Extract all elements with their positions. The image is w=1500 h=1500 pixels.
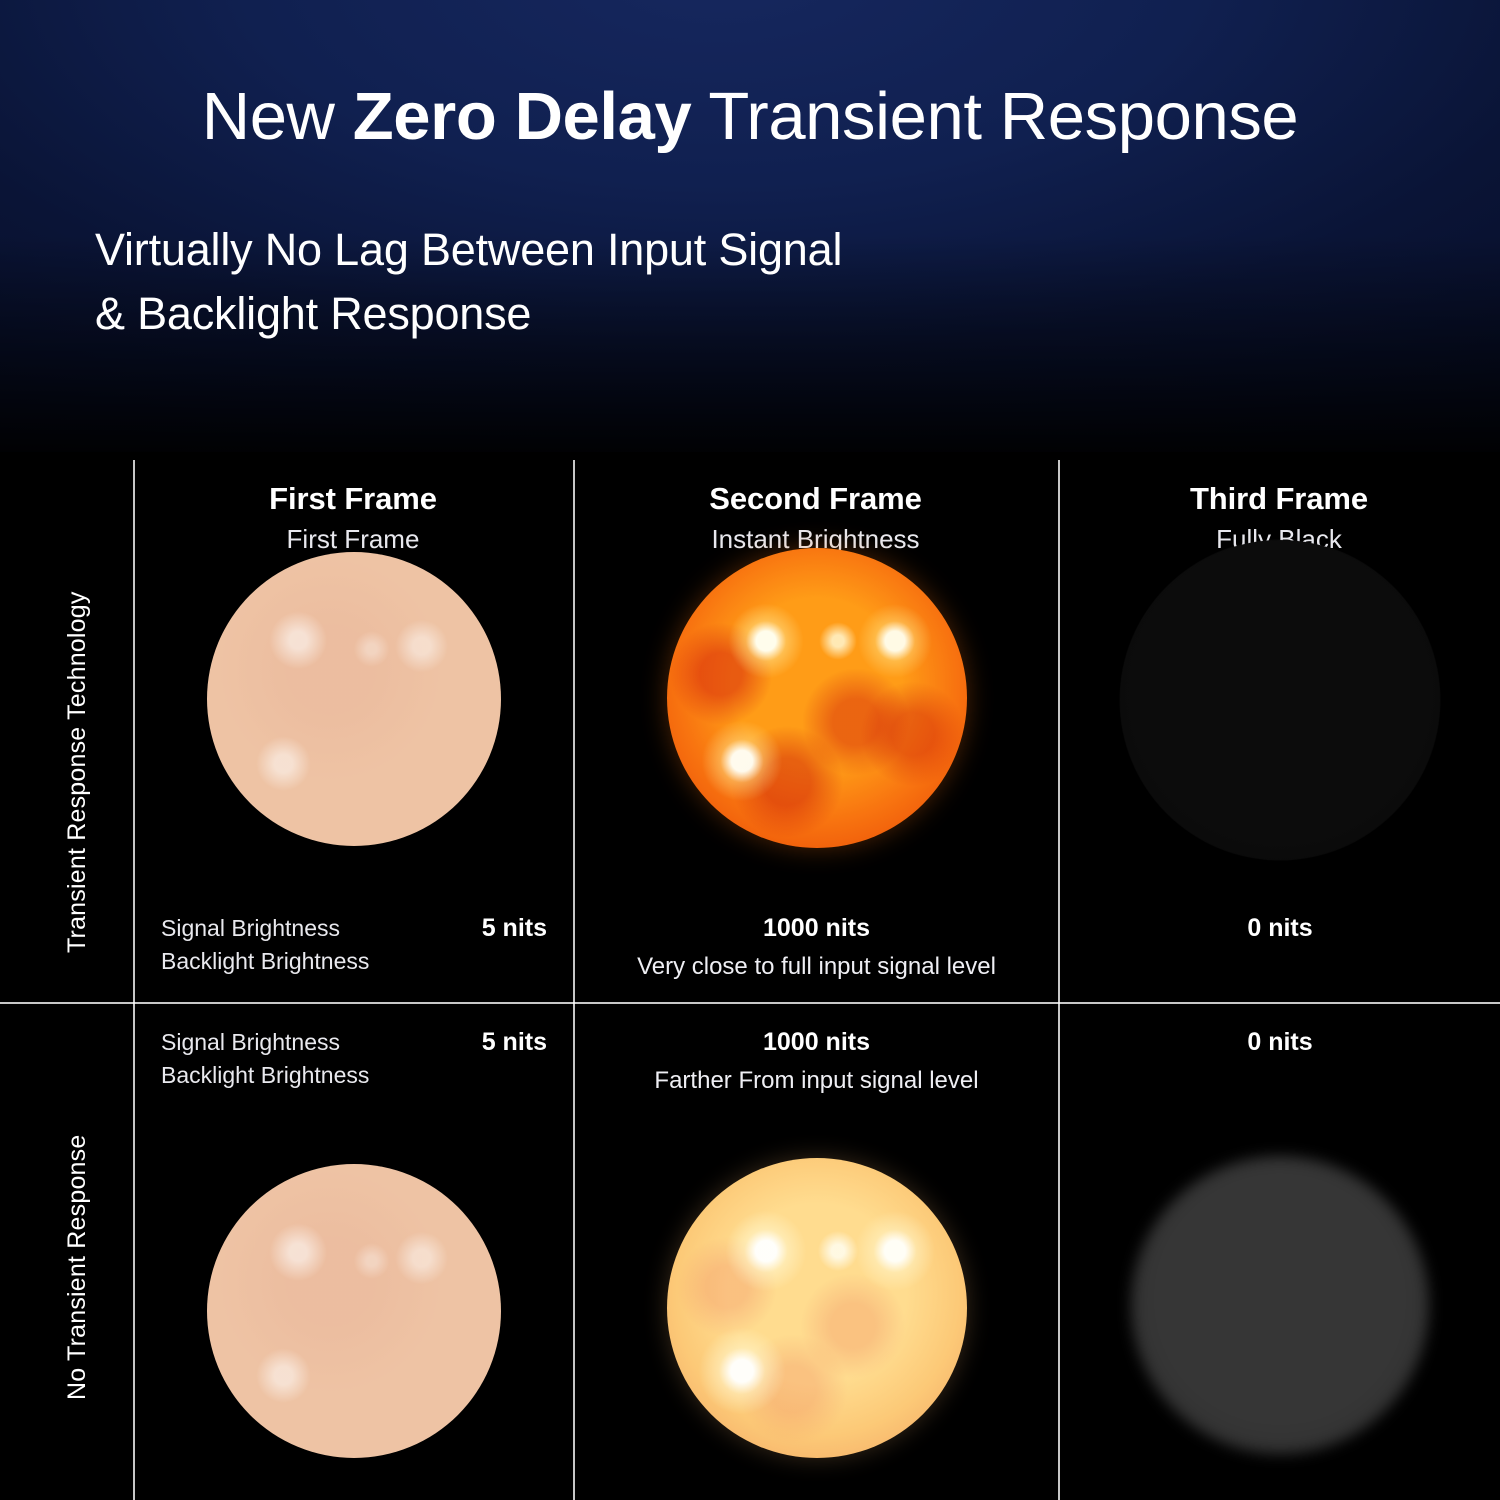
caption-block: Signal Brightness 5 nits Backlight Brigh…	[135, 1026, 573, 1091]
backlight-brightness-label: Backlight Brightness	[161, 945, 369, 978]
row-label-no-transient-response: No Transient Response	[62, 1052, 124, 1482]
orb-container	[135, 1164, 573, 1458]
backlight-brightness-label: Backlight Brightness	[161, 1059, 369, 1092]
cell-row1-first-frame: Signal Brightness 5 nits Backlight Brigh…	[135, 460, 573, 1002]
nits-value: 5 nits	[482, 1028, 547, 1057]
dim-sphere-icon	[207, 1164, 501, 1458]
pale-orange-sun-icon	[667, 1158, 967, 1458]
orb-container	[575, 548, 1058, 848]
nits-note: Very close to full input signal level	[601, 951, 1032, 983]
black-sphere-icon	[1120, 540, 1440, 860]
caption-block: 0 nits	[1060, 912, 1500, 951]
cell-row1-second-frame: 1000 nits Very close to full input signa…	[575, 460, 1058, 1002]
page-title: New Zero Delay Transient Response	[0, 82, 1500, 152]
caption-block: 1000 nits Very close to full input signa…	[575, 912, 1058, 983]
orb-container	[1060, 1156, 1500, 1454]
dim-sphere-icon	[207, 552, 501, 846]
orb-container	[1060, 540, 1500, 860]
signal-brightness-label: Signal Brightness	[161, 1026, 340, 1059]
nits-value: 5 nits	[482, 914, 547, 943]
hot-orange-sun-icon	[667, 548, 967, 848]
nits-note: Farther From input signal level	[601, 1065, 1032, 1097]
nits-value: 0 nits	[1086, 1026, 1474, 1059]
subtitle-line-1: Virtually No Lag Between Input Signal	[95, 218, 1295, 282]
nits-value: 1000 nits	[601, 1026, 1032, 1059]
orb-container	[135, 552, 573, 846]
headline-emphasis: Zero Delay	[353, 79, 692, 154]
grey-glow-sphere-icon	[1131, 1156, 1429, 1454]
caption-block: Signal Brightness 5 nits Backlight Brigh…	[135, 912, 573, 977]
hero-banner: New Zero Delay Transient Response Virtua…	[0, 0, 1500, 452]
cell-row2-first-frame: Signal Brightness 5 nits Backlight Brigh…	[135, 1006, 573, 1500]
headline-suffix: Transient Response	[691, 79, 1298, 154]
caption-block: 0 nits	[1060, 1026, 1500, 1065]
subtitle-line-2: & Backlight Response	[95, 282, 1295, 346]
signal-brightness-label: Signal Brightness	[161, 912, 340, 945]
cell-row2-second-frame: 1000 nits Farther From input signal leve…	[575, 1006, 1058, 1500]
row-label-transient-response-technology: Transient Response Technology	[62, 562, 124, 982]
orb-container	[575, 1158, 1058, 1458]
page-subtitle: Virtually No Lag Between Input Signal & …	[95, 218, 1295, 346]
grid-line-horizontal	[0, 1002, 1500, 1004]
nits-value: 1000 nits	[601, 912, 1032, 945]
nits-value: 0 nits	[1086, 912, 1474, 945]
caption-block: 1000 nits Farther From input signal leve…	[575, 1026, 1058, 1097]
comparison-matrix: First Frame First Frame Second Frame Ins…	[0, 452, 1500, 1500]
cell-row1-third-frame: 0 nits	[1060, 460, 1500, 1002]
cell-row2-third-frame: 0 nits	[1060, 1006, 1500, 1500]
headline-prefix: New	[202, 79, 353, 154]
